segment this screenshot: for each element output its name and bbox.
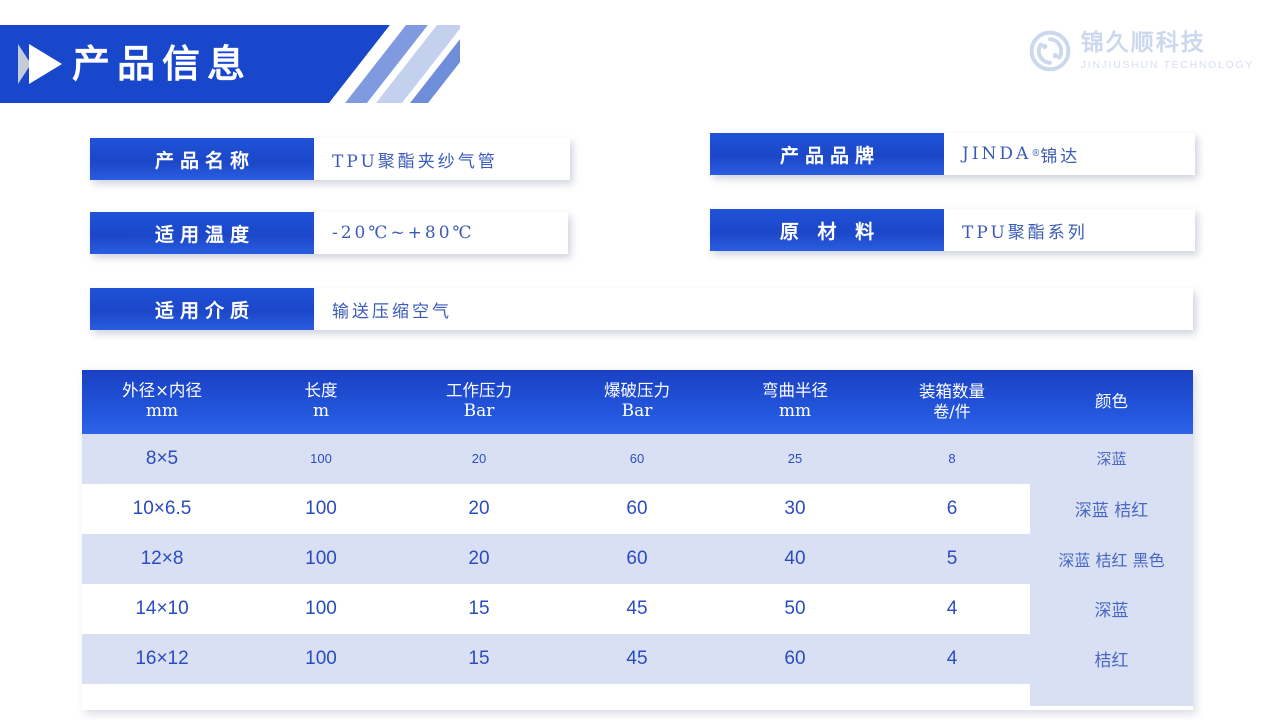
- cell-working-pressure: 20: [400, 484, 558, 534]
- column-header-working-pressure-cn: 工作压力: [446, 381, 512, 400]
- column-header-size: 外径×内径 mm: [82, 370, 242, 434]
- spacer-cell-color: [1030, 684, 1193, 706]
- table-row: 8×5 100 20 60 25 8 深蓝: [82, 434, 1193, 484]
- column-header-bend-radius: 弯曲半径 mm: [716, 370, 874, 434]
- spec-table-header-row: 外径×内径 mm 长度 m 工作压力 Bar 爆破压力 Bar 弯曲半径 m: [82, 370, 1193, 434]
- field-value-product-name: TPU聚酯夹纱气管: [314, 138, 570, 180]
- spacer-cell: [82, 684, 242, 706]
- spacer-cell: [242, 684, 400, 706]
- cell-length: 100: [242, 634, 400, 684]
- field-raw-material: 原 材 料 TPU聚酯系列: [710, 209, 1195, 251]
- cell-bend-radius: 30: [716, 484, 874, 534]
- swirl-logo-icon: [1029, 30, 1071, 72]
- cell-package-qty: 4: [874, 584, 1030, 634]
- cell-package-qty: 6: [874, 484, 1030, 534]
- column-header-color: 颜色: [1030, 370, 1193, 434]
- cell-length: 100: [242, 434, 400, 484]
- field-label-product-name: 产品名称: [90, 138, 314, 180]
- cell-bend-radius: 40: [716, 534, 874, 584]
- cell-color: 深蓝: [1030, 584, 1193, 634]
- cell-burst-pressure: 60: [558, 484, 716, 534]
- column-header-working-pressure: 工作压力 Bar: [400, 370, 558, 434]
- column-header-working-pressure-unit: Bar: [400, 401, 558, 423]
- spec-table: 外径×内径 mm 长度 m 工作压力 Bar 爆破压力 Bar 弯曲半径 m: [82, 370, 1193, 706]
- cell-length: 100: [242, 584, 400, 634]
- cell-size: 12×8: [82, 534, 242, 584]
- cell-working-pressure: 20: [400, 434, 558, 484]
- column-header-package-qty-unit: 卷/件: [874, 402, 1030, 422]
- spacer-cell: [716, 684, 874, 706]
- table-row: 14×10 100 15 45 50 4 深蓝: [82, 584, 1193, 634]
- column-header-package-qty: 装箱数量 卷/件: [874, 370, 1030, 434]
- field-media: 适用介质 输送压缩空气: [90, 288, 1193, 330]
- cell-bend-radius: 60: [716, 634, 874, 684]
- cell-package-qty: 8: [874, 434, 1030, 484]
- spec-table-body: 8×5 100 20 60 25 8 深蓝 10×6.5 100 20 60 3…: [82, 434, 1193, 706]
- column-header-size-cn: 外径×内径: [122, 381, 202, 400]
- field-label-product-brand: 产品品牌: [710, 133, 944, 175]
- cell-bend-radius: 25: [716, 434, 874, 484]
- cell-color: 深蓝 桔红: [1030, 484, 1193, 534]
- company-logo: 锦久顺科技 JINJIUSHUN TECHNOLOGY: [1029, 30, 1254, 72]
- spacer-cell: [400, 684, 558, 706]
- cell-bend-radius: 50: [716, 584, 874, 634]
- page-title: 产品信息: [72, 40, 252, 88]
- column-header-burst-pressure: 爆破压力 Bar: [558, 370, 716, 434]
- field-value-raw-material: TPU聚酯系列: [944, 209, 1195, 251]
- cell-burst-pressure: 45: [558, 584, 716, 634]
- cell-length: 100: [242, 484, 400, 534]
- table-bottom-spacer: [82, 684, 1193, 706]
- cell-size: 8×5: [82, 434, 242, 484]
- play-triangle-icon: [18, 44, 64, 84]
- cell-color: 深蓝 桔红 黑色: [1030, 534, 1193, 584]
- cell-burst-pressure: 60: [558, 434, 716, 484]
- column-header-length-unit: m: [242, 401, 400, 423]
- cell-length: 100: [242, 534, 400, 584]
- logo-name-cn: 锦久顺科技: [1081, 32, 1254, 55]
- field-label-raw-material: 原 材 料: [710, 209, 944, 251]
- table-row: 12×8 100 20 60 40 5 深蓝 桔红 黑色: [82, 534, 1193, 584]
- cell-burst-pressure: 60: [558, 534, 716, 584]
- column-header-bend-radius-cn: 弯曲半径: [762, 381, 828, 400]
- table-row: 10×6.5 100 20 60 30 6 深蓝 桔红: [82, 484, 1193, 534]
- column-header-color-cn: 颜色: [1095, 392, 1128, 411]
- play-triangle-main: [29, 44, 62, 84]
- spacer-cell: [874, 684, 1030, 706]
- cell-package-qty: 5: [874, 534, 1030, 584]
- field-product-brand: 产品品牌 JINDA®锦达: [710, 133, 1195, 175]
- cell-size: 14×10: [82, 584, 242, 634]
- cell-working-pressure: 15: [400, 634, 558, 684]
- field-label-media: 适用介质: [90, 288, 314, 330]
- cell-size: 10×6.5: [82, 484, 242, 534]
- cell-package-qty: 4: [874, 634, 1030, 684]
- field-label-temperature: 适用温度: [90, 212, 314, 254]
- spec-table-container: 外径×内径 mm 长度 m 工作压力 Bar 爆破压力 Bar 弯曲半径 m: [82, 370, 1193, 710]
- column-header-package-qty-cn: 装箱数量: [919, 382, 985, 401]
- cell-color: 桔红: [1030, 634, 1193, 684]
- logo-text-group: 锦久顺科技 JINJIUSHUN TECHNOLOGY: [1081, 32, 1254, 71]
- column-header-burst-pressure-cn: 爆破压力: [604, 381, 670, 400]
- spacer-cell: [558, 684, 716, 706]
- field-value-temperature: -20℃~+80℃: [314, 212, 568, 254]
- cell-working-pressure: 20: [400, 534, 558, 584]
- table-row: 16×12 100 15 45 60 4 桔红: [82, 634, 1193, 684]
- field-value-product-brand: JINDA®锦达: [944, 133, 1195, 175]
- column-header-bend-radius-unit: mm: [716, 401, 874, 423]
- field-temperature: 适用温度 -20℃~+80℃: [90, 212, 568, 254]
- column-header-size-unit: mm: [82, 401, 242, 423]
- field-value-media: 输送压缩空气: [314, 288, 1193, 330]
- cell-color: 深蓝: [1030, 434, 1193, 484]
- cell-working-pressure: 15: [400, 584, 558, 634]
- cell-burst-pressure: 45: [558, 634, 716, 684]
- column-header-burst-pressure-unit: Bar: [558, 401, 716, 423]
- column-header-length: 长度 m: [242, 370, 400, 434]
- cell-size: 16×12: [82, 634, 242, 684]
- column-header-length-cn: 长度: [305, 381, 338, 400]
- logo-name-en: JINJIUSHUN TECHNOLOGY: [1081, 60, 1254, 71]
- field-product-name: 产品名称 TPU聚酯夹纱气管: [90, 138, 570, 180]
- spec-table-head: 外径×内径 mm 长度 m 工作压力 Bar 爆破压力 Bar 弯曲半径 m: [82, 370, 1193, 434]
